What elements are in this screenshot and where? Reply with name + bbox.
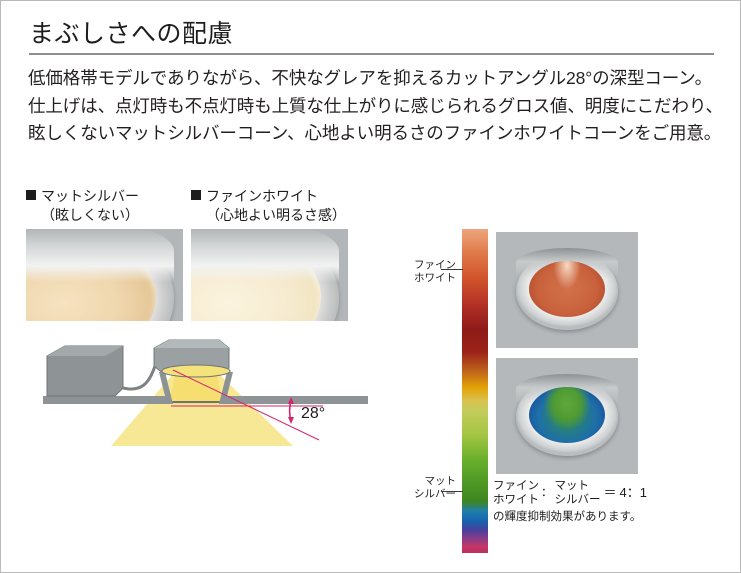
scale-label-fine-white: ファイン ホワイト — [400, 259, 456, 285]
scale-label-fine-white-line1: ファイン — [400, 259, 456, 272]
caption-fine-white-head: ファインホワイト — [191, 187, 346, 206]
luminance-photo-matt-silver — [496, 358, 638, 474]
cone-photo-matt-silver — [26, 229, 183, 321]
luminance-disc-inner-cool — [529, 387, 605, 443]
angle-arrow-head-bottom — [288, 417, 294, 424]
intro-line-3: 眩しくないマットシルバーコーン、心地よい明るさのファインホワイトコーンをご用意。 — [28, 120, 728, 148]
title-divider — [29, 53, 714, 55]
caption-fine-white: ファインホワイト （心地よい明るさ感） — [191, 187, 346, 225]
lamp-lens — [162, 365, 230, 377]
caption-matt-silver-head: マットシルバー — [26, 187, 139, 206]
scale-label-matt-silver-line2: シルバー — [400, 488, 456, 501]
ratio-note: ファイン ホワイト ： マット シルバー ＝ 4：1 の輝度抑制効果があります。 — [493, 479, 733, 525]
light-beam-core — [169, 374, 223, 404]
caption-fine-white-name: ファインホワイト — [206, 188, 318, 204]
scale-label-matt-silver-line1: マット — [400, 475, 456, 488]
section-drawing: 28° — [23, 326, 383, 471]
ratio-note-tail: の輝度抑制効果があります。 — [493, 510, 733, 525]
scale-leader-fine-white — [441, 269, 463, 270]
scale-leader-matt-silver — [441, 491, 463, 492]
ratio-matt-silver-line2: シルバー — [555, 493, 601, 507]
caption-matt-silver-note: （眩しくない） — [26, 206, 139, 225]
ratio-fine-white-line2: ホワイト — [493, 493, 539, 507]
ratio-term-matt-silver: マット シルバー — [555, 479, 601, 507]
cone-outer-lip — [26, 229, 174, 282]
caption-matt-silver: マットシルバー （眩しくない） — [26, 187, 139, 225]
connector-wire — [123, 366, 155, 389]
square-bullet-icon — [191, 190, 201, 200]
page-title: まぶしさへの配慮 — [29, 14, 233, 50]
intro-paragraph: 低価格帯モデルでありながら、不快なグレアを抑えるカットアングル28°の深型コーン… — [28, 65, 728, 148]
ceiling-slab-right — [223, 396, 368, 404]
caption-matt-silver-name: マットシルバー — [41, 188, 139, 204]
ratio-equals-sign: ＝ — [604, 486, 617, 500]
luminance-scale-bar — [462, 229, 488, 553]
luminance-disc-inner-warm — [529, 261, 605, 317]
caption-fine-white-note: （心地よい明るさ感） — [191, 206, 346, 225]
ratio-matt-silver-line1: マット — [555, 479, 601, 493]
square-bullet-icon — [26, 190, 36, 200]
intro-line-1: 低価格帯モデルでありながら、不快なグレアを抑えるカットアングル28°の深型コーン… — [28, 65, 728, 93]
ratio-value: 4：1 — [620, 486, 647, 500]
ratio-term-fine-white: ファイン ホワイト — [493, 479, 539, 507]
ratio-fine-white-line1: ファイン — [493, 479, 539, 493]
ceiling-slab — [43, 396, 168, 404]
scale-label-matt-silver: マット シルバー — [400, 475, 456, 501]
fixture-housing-top — [154, 340, 229, 348]
cone-outer-lip — [191, 229, 339, 282]
product-feature-page: まぶしさへの配慮 低価格帯モデルでありながら、不快なグレアを抑えるカットアングル… — [0, 0, 741, 573]
scale-label-fine-white-line2: ホワイト — [400, 272, 456, 285]
cone-photo-fine-white — [191, 229, 348, 321]
intro-line-2: 仕上げは、点灯時も不点灯時も上質な仕上がりに感じられるグロス値、明度にこだわり、 — [28, 93, 728, 121]
cut-angle-label: 28° — [301, 405, 325, 422]
ratio-colon: ： — [541, 486, 553, 500]
ratio-note-expression: ファイン ホワイト ： マット シルバー ＝ 4：1 — [493, 479, 733, 507]
luminance-photo-fine-white — [496, 232, 638, 348]
